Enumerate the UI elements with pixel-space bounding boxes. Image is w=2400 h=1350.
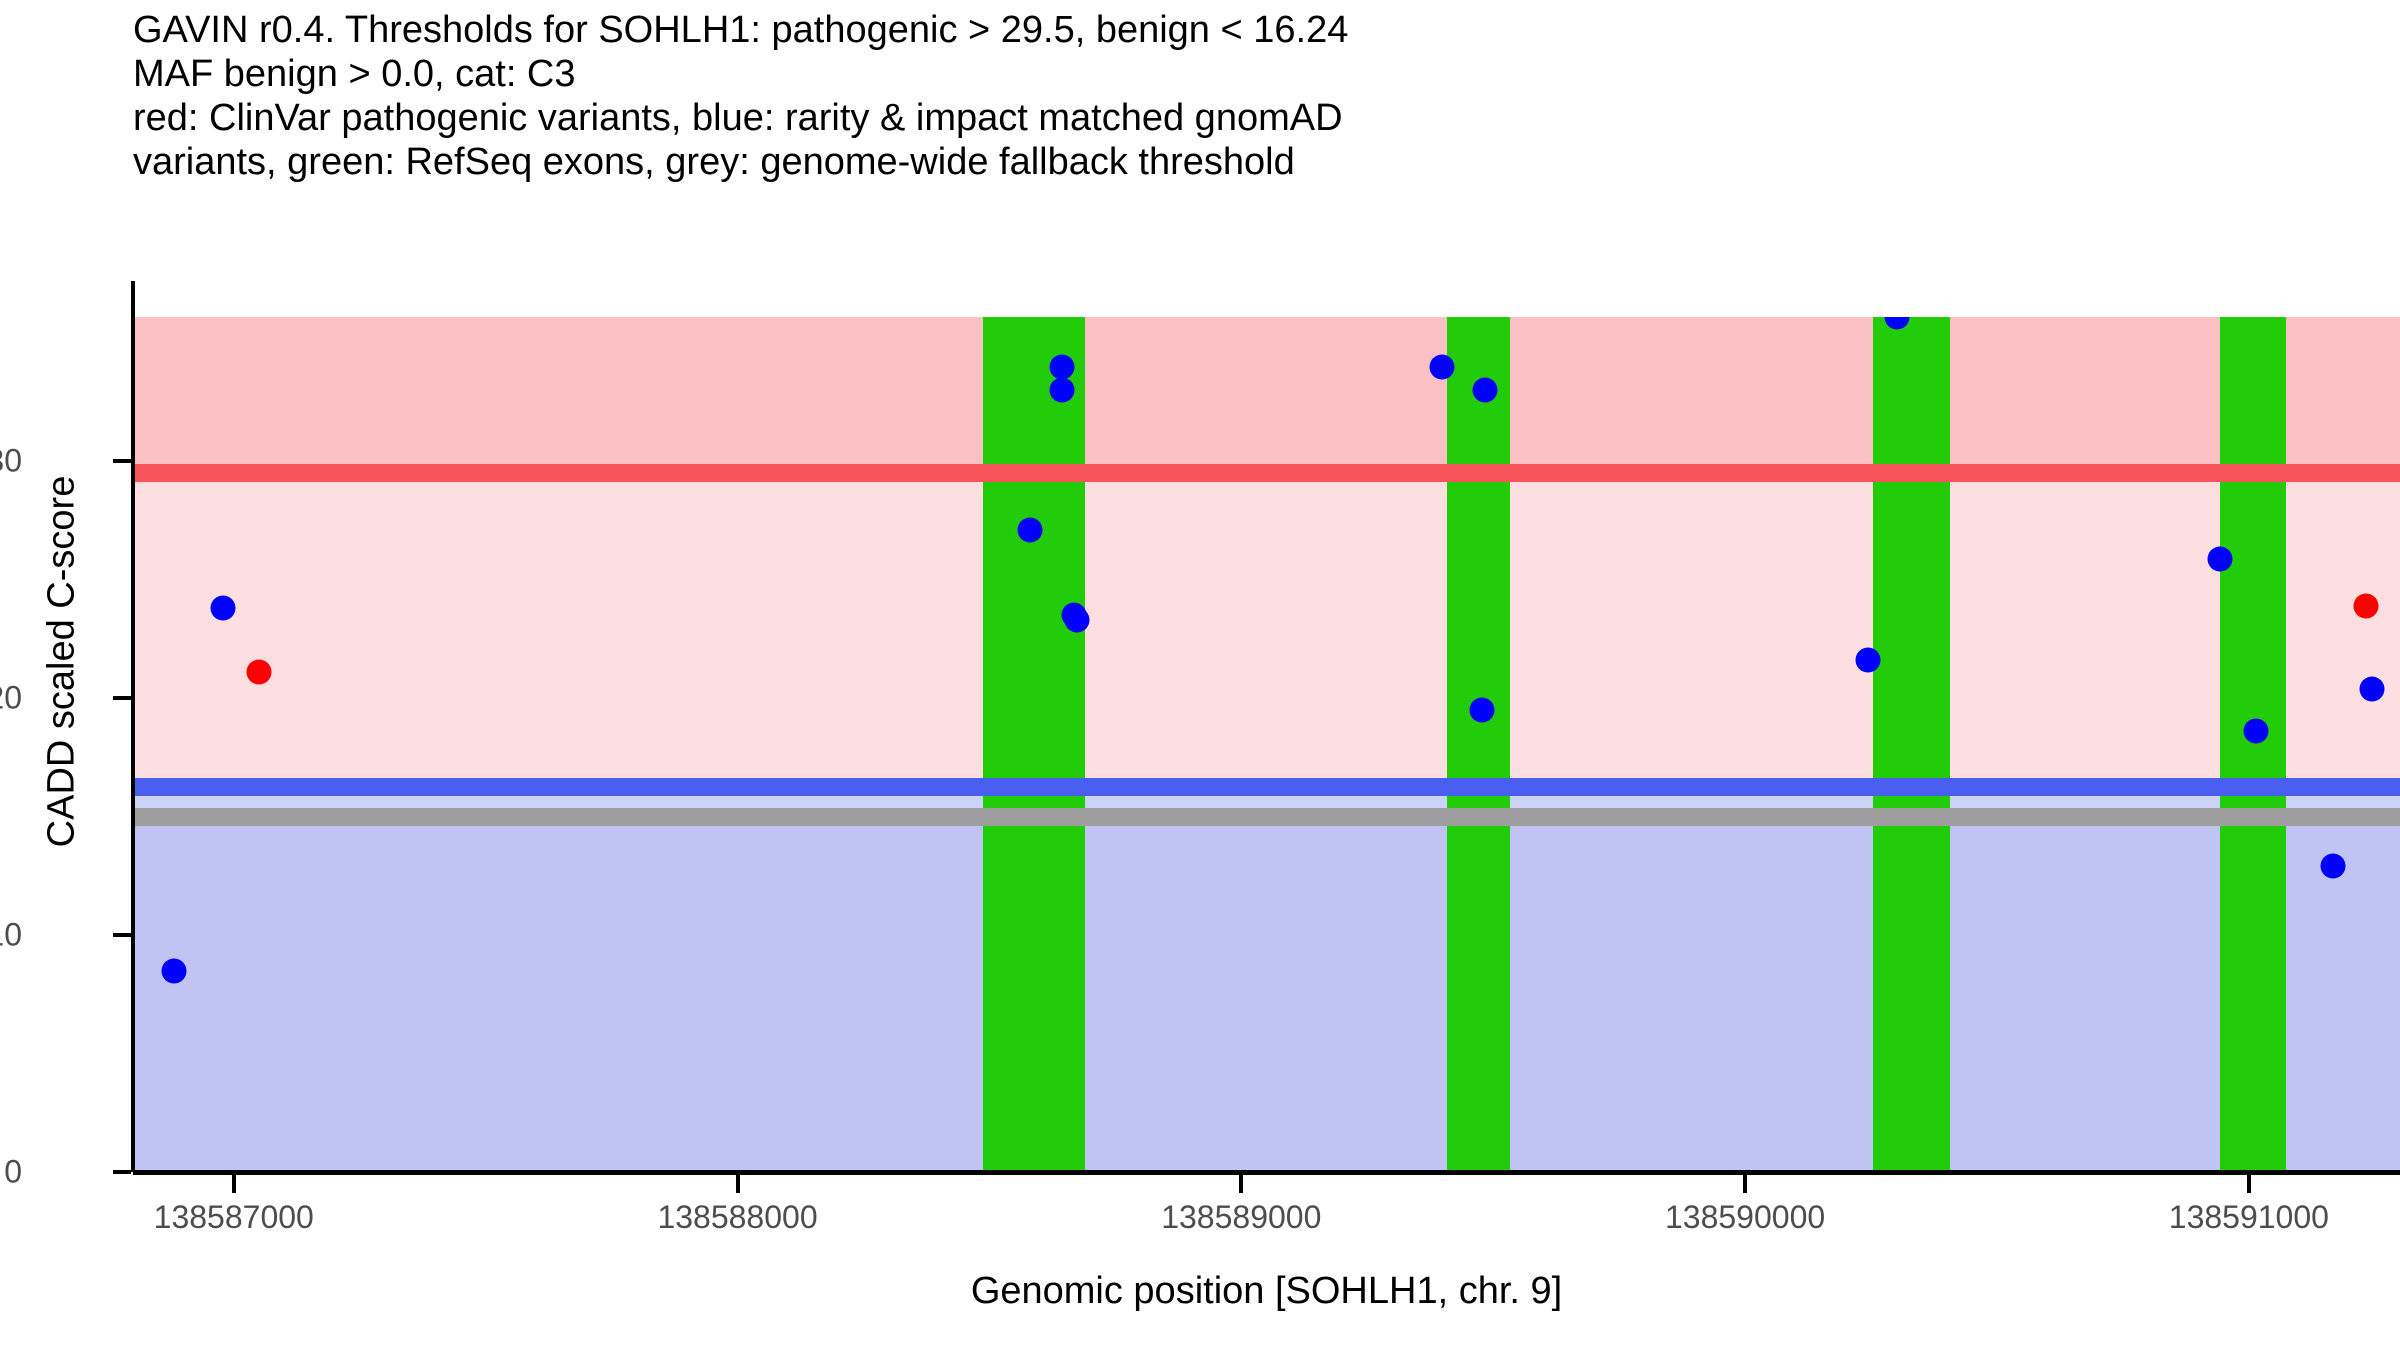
- x-axis-tick: [736, 1175, 740, 1193]
- y-axis-tick: [113, 459, 131, 463]
- y-axis-tick-label: 10: [0, 917, 22, 954]
- vous-zone: [133, 473, 2400, 787]
- pathogenic-threshold-line: [133, 464, 2400, 482]
- y-axis-tick: [113, 933, 131, 937]
- x-axis-tick-label: 138588000: [657, 1199, 817, 1236]
- refseq-exon-band: [1447, 317, 1510, 1172]
- y-axis-tick: [113, 696, 131, 700]
- plot-panel: [133, 317, 2400, 1172]
- gnomad-variant-point: [1470, 698, 1495, 723]
- x-axis-tick: [232, 1175, 236, 1193]
- x-axis-tick-label: 138590000: [1665, 1199, 1825, 1236]
- benign-zone: [133, 817, 2400, 1172]
- cadd-scatter-plot: 0102030 13858700013858800013858900013859…: [0, 0, 2400, 1350]
- gnomad-variant-point: [1050, 378, 1075, 403]
- pathogenic-variant-point: [2354, 593, 2379, 618]
- gnomad-variant-point: [1472, 378, 1497, 403]
- gnomad-variant-point: [2208, 546, 2233, 571]
- y-axis-line: [131, 281, 135, 1172]
- x-axis-tick-label: 138589000: [1161, 1199, 1321, 1236]
- gnomad-variant-point: [1430, 354, 1455, 379]
- gnomad-variant-point: [1018, 518, 1043, 543]
- y-axis-tick-label: 30: [0, 443, 22, 480]
- refseq-exon-band: [1873, 317, 1950, 1172]
- refseq-exon-band: [2220, 317, 2286, 1172]
- pathogenic-zone: [133, 317, 2400, 473]
- gnomad-variant-point: [2243, 719, 2268, 744]
- fallback-threshold-line: [133, 808, 2400, 826]
- gnomad-variant-point: [1065, 608, 1090, 633]
- gnomad-variant-point: [161, 958, 186, 983]
- x-axis-tick: [2247, 1175, 2251, 1193]
- y-axis-title: CADD scaled C-score: [41, 362, 84, 962]
- gnomad-variant-point: [1856, 648, 1881, 673]
- x-axis-title: Genomic position [SOHLH1, chr. 9]: [133, 1270, 2400, 1313]
- gnomad-variant-point: [2320, 854, 2345, 879]
- gnomad-variant-point: [2359, 676, 2384, 701]
- x-axis-line: [133, 1170, 2400, 1175]
- benign-threshold-line: [133, 778, 2400, 796]
- pathogenic-variant-point: [247, 660, 272, 685]
- x-axis-tick-label: 138587000: [154, 1199, 314, 1236]
- x-axis-tick: [1743, 1175, 1747, 1193]
- x-axis-tick: [1239, 1175, 1243, 1193]
- x-axis-tick-label: 138591000: [2169, 1199, 2329, 1236]
- y-axis-tick-label: 0: [4, 1154, 22, 1191]
- gnomad-variant-point: [1050, 354, 1075, 379]
- gnomad-variant-point: [211, 596, 236, 621]
- refseq-exon-band: [983, 317, 1085, 1172]
- y-axis-tick: [113, 1170, 131, 1174]
- y-axis-tick-label: 20: [0, 680, 22, 717]
